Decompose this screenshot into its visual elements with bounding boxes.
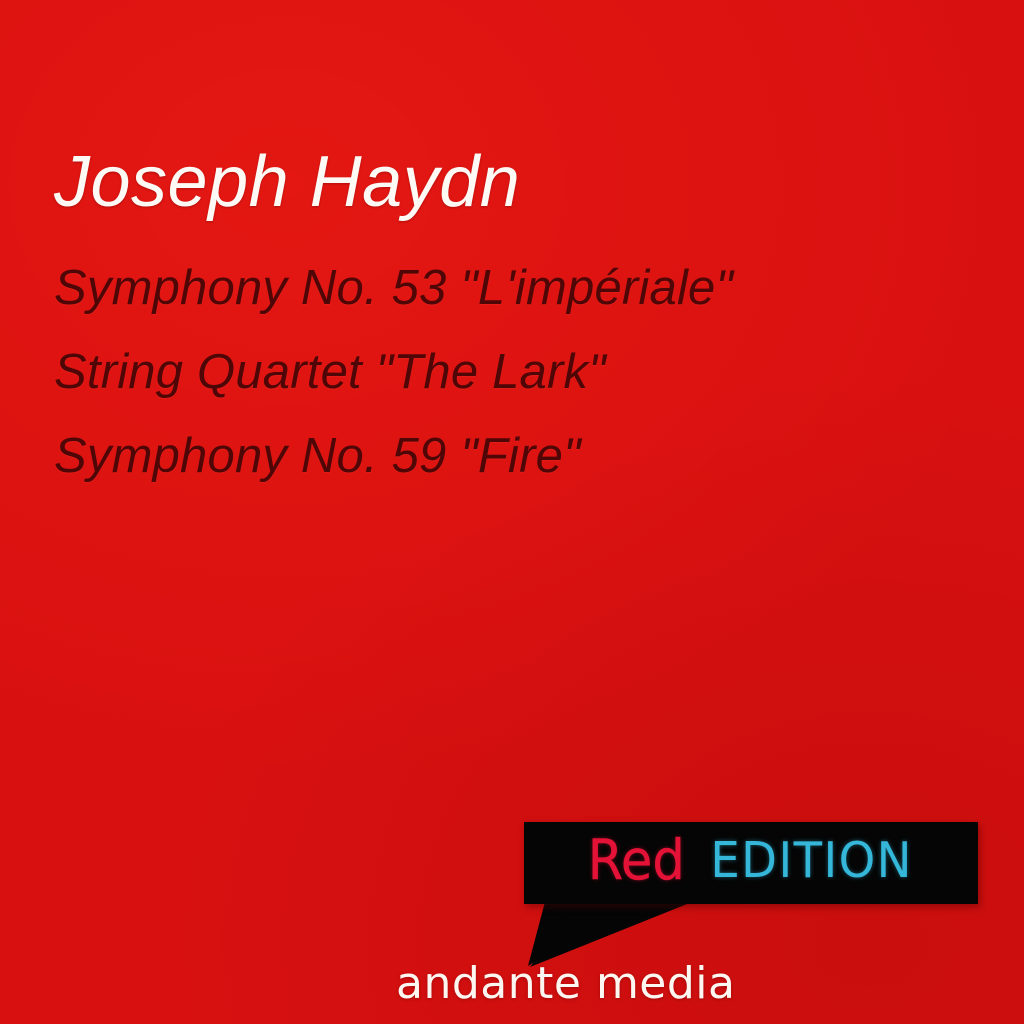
work-list-item: String Quartet "The Lark" bbox=[54, 330, 954, 414]
work-list: Symphony No. 53 "L'impériale" String Qua… bbox=[54, 246, 954, 498]
badge-word-red: Red bbox=[588, 833, 685, 888]
badge-box: Red EDITION bbox=[524, 822, 978, 904]
composer-name: Joseph Haydn bbox=[54, 146, 954, 218]
work-list-item: Symphony No. 59 "Fire" bbox=[54, 414, 954, 498]
album-cover: Joseph Haydn Symphony No. 53 "L'impérial… bbox=[0, 0, 1024, 1024]
red-edition-badge: Red EDITION bbox=[520, 820, 980, 980]
label-wordmark: andante media bbox=[396, 962, 736, 1006]
badge-word-edition: EDITION bbox=[710, 836, 913, 885]
work-list-item: Symphony No. 53 "L'impériale" bbox=[54, 246, 954, 330]
cover-text-block: Joseph Haydn Symphony No. 53 "L'impérial… bbox=[54, 146, 954, 498]
